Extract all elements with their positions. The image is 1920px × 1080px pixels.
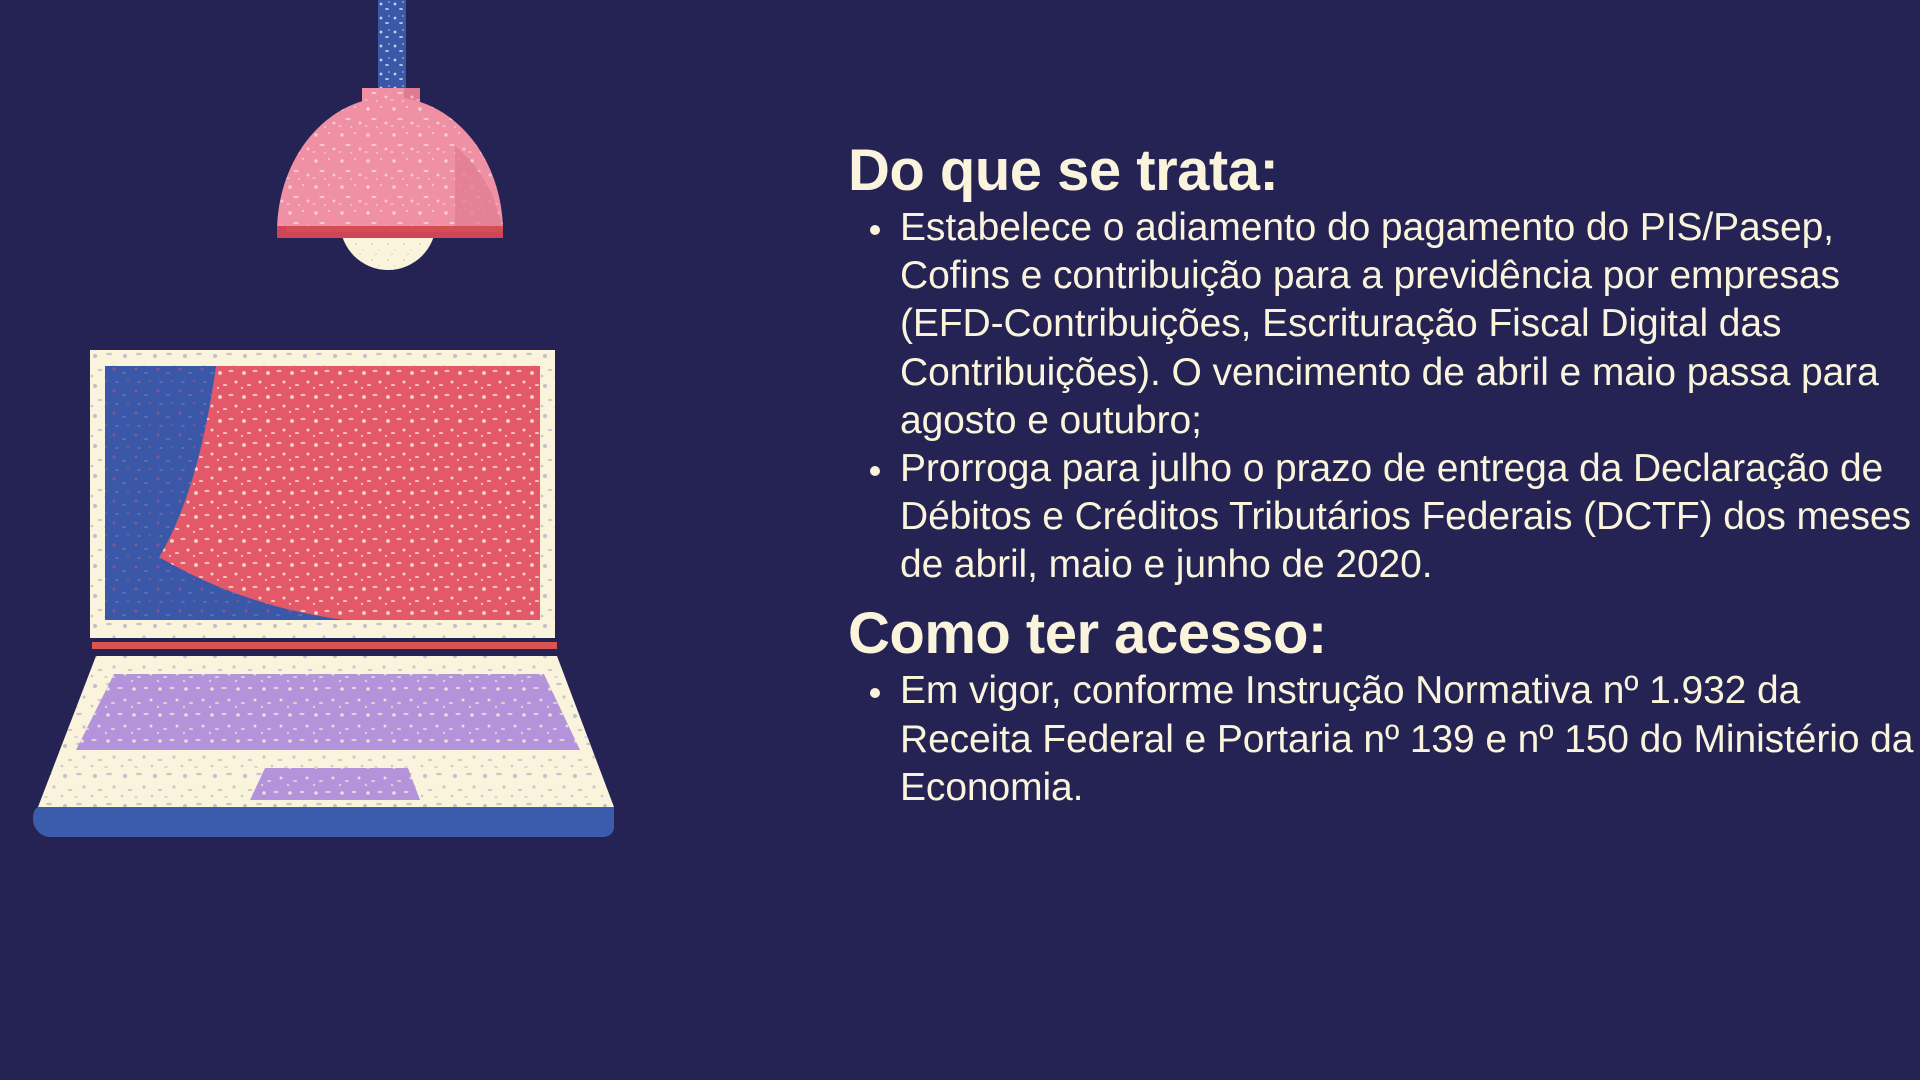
list-item-text: Em vigor, conforme Instrução Normativa n… (900, 669, 1913, 808)
bullet-dot-icon (870, 225, 880, 235)
list-item: Prorroga para julho o prazo de entrega d… (848, 445, 1916, 589)
bullet-list-do-que-se-trata: Estabelece o adiamento do pagamento do P… (848, 204, 1916, 589)
bullet-list-como-ter-acesso: Em vigor, conforme Instrução Normativa n… (848, 667, 1916, 811)
laptop-keyboard-deck (38, 656, 614, 807)
laptop-illustration (0, 320, 780, 960)
bullet-dot-icon (870, 688, 880, 698)
laptop-base-edge (33, 807, 614, 837)
lamp-shade-group (277, 97, 503, 238)
laptop-screen (105, 366, 540, 620)
list-item-text: Prorroga para julho o prazo de entrega d… (900, 447, 1911, 586)
list-item: Estabelece o adiamento do pagamento do P… (848, 204, 1916, 445)
laptop-lid-group (90, 350, 557, 649)
list-item: Em vigor, conforme Instrução Normativa n… (848, 667, 1916, 811)
section-heading-como-ter-acesso: Como ter acesso: (848, 603, 1916, 665)
lamp-cord-group (378, 0, 406, 100)
bullet-dot-icon (870, 466, 880, 476)
list-item-text: Estabelece o adiamento do pagamento do P… (900, 206, 1879, 442)
slide-canvas: Do que se trata: Estabelece o adiamento … (0, 0, 1920, 1080)
content-text-column: Do que se trata: Estabelece o adiamento … (848, 140, 1916, 812)
section-heading-do-que-se-trata: Do que se trata: (848, 140, 1916, 202)
